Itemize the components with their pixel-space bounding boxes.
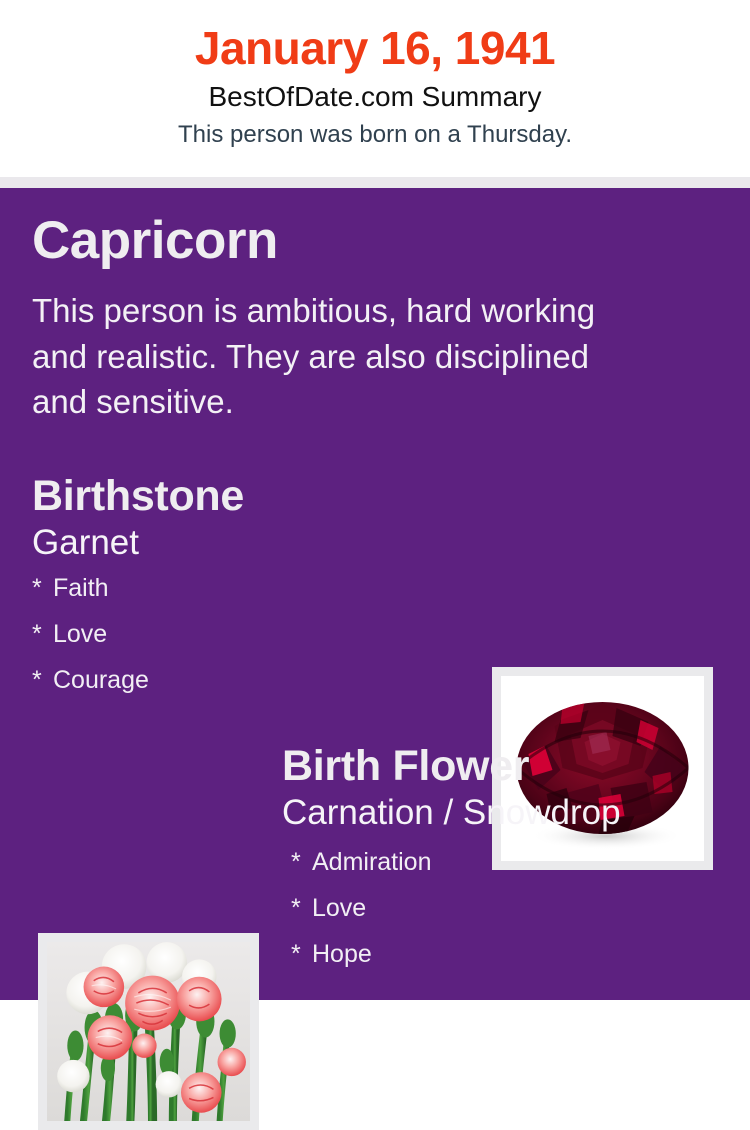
list-item: *Hope (291, 942, 722, 988)
birth-flower-image (47, 942, 250, 1121)
list-item-label: Hope (312, 940, 372, 968)
birthstone-trait-list: *Faith *Love *Courage (32, 560, 462, 714)
header: January 16, 1941 BestOfDate.com Summary … (0, 0, 750, 177)
carnation-bouquet-icon (47, 942, 250, 1121)
asterisk-icon: * (32, 622, 53, 647)
list-item: *Faith (32, 576, 462, 622)
asterisk-icon: * (32, 576, 53, 601)
birthstone-section: Birthstone Garnet *Faith *Love *Courage (32, 475, 462, 714)
birthstone-heading: Birthstone (32, 475, 462, 518)
birthstone-name: Garnet (32, 518, 462, 560)
weekday-note: This person was born on a Thursday. (0, 113, 750, 148)
list-item-label: Courage (53, 666, 149, 694)
zodiac-description: This person is ambitious, hard working a… (32, 288, 652, 425)
asterisk-icon: * (291, 896, 312, 921)
header-divider (0, 177, 750, 188)
birth-flower-trait-list: *Admiration *Love *Hope (282, 830, 722, 988)
site-name: BestOfDate.com Summary (0, 72, 750, 113)
asterisk-icon: * (291, 942, 312, 967)
page-title-date: January 16, 1941 (0, 0, 750, 72)
birth-flower-name: Carnation / Snowdrop (282, 788, 722, 830)
asterisk-icon: * (32, 668, 53, 693)
list-item: *Courage (32, 668, 462, 714)
list-item-label: Love (53, 620, 107, 648)
list-item-label: Admiration (312, 848, 432, 876)
list-item: *Love (291, 896, 722, 942)
birth-flower-image-frame (38, 933, 259, 1130)
list-item: *Admiration (291, 850, 722, 896)
asterisk-icon: * (291, 850, 312, 875)
birth-flower-section: Birth Flower Carnation / Snowdrop *Admir… (282, 745, 722, 988)
birth-flower-heading: Birth Flower (282, 745, 722, 788)
list-item-label: Love (312, 894, 366, 922)
list-item-label: Faith (53, 574, 109, 602)
summary-card: January 16, 1941 BestOfDate.com Summary … (0, 0, 750, 1000)
zodiac-sign-title: Capricorn (32, 214, 278, 267)
list-item: *Love (32, 622, 462, 668)
content-panel: Capricorn This person is ambitious, hard… (0, 188, 750, 1000)
